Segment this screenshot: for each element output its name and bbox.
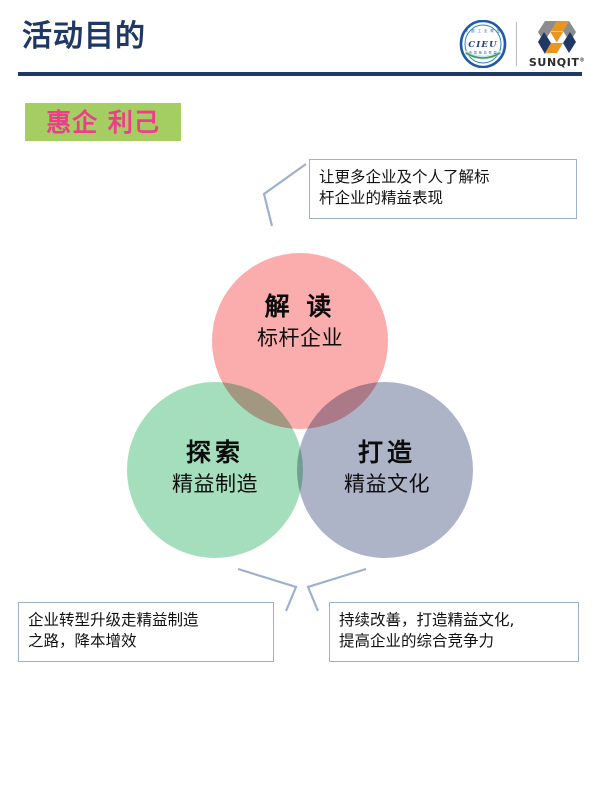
venn-subtitle-right: 精益文化 <box>292 472 482 497</box>
venn-subtitle-left: 精益制造 <box>120 472 310 497</box>
callout-bl-line1: 企业转型升级走精益制造 <box>28 610 264 631</box>
venn-heading-left: 探索 <box>120 438 310 468</box>
venn-label-left: 探索 精益制造 <box>120 438 310 496</box>
callout-br-line2: 提高企业的综合竞争力 <box>339 631 569 652</box>
status-badge: 惠企 利己 <box>25 103 181 141</box>
sunqit-logo: SUNQIT® <box>526 18 588 70</box>
page-title: 活动目的 <box>22 22 146 52</box>
venn-label-top: 解 读 标杆企业 <box>212 292 388 350</box>
connector-top <box>248 160 318 230</box>
venn-subtitle-top: 标杆企业 <box>212 326 388 351</box>
callout-bl-line2: 之路，降本增效 <box>28 631 264 652</box>
title-divider <box>18 72 582 76</box>
callout-top: 让更多企业及个人了解标 杆企业的精益表现 <box>309 159 577 219</box>
svg-text:中 国 精 益 联 盟: 中 国 精 益 联 盟 <box>469 50 497 55</box>
callout-top-line2: 杆企业的精益表现 <box>319 188 567 209</box>
svg-text:CIEU: CIEU <box>468 40 497 50</box>
callout-bottom-right: 持续改善，打造精益文化, 提高企业的综合竞争力 <box>329 602 579 662</box>
venn-heading-top: 解 读 <box>212 292 388 322</box>
logo-group: CIEU 中 国 工 业 联 盟 中 国 精 益 联 盟 <box>459 18 588 70</box>
logo-divider <box>516 22 517 66</box>
callout-br-line1: 持续改善，打造精益文化, <box>339 610 569 631</box>
badge-label: 惠企 利己 <box>46 110 160 135</box>
callout-bottom-left: 企业转型升级走精益制造 之路，降本增效 <box>18 602 274 662</box>
slide-canvas: 活动目的 CIEU 中 国 工 业 联 盟 中 国 精 益 联 盟 <box>0 0 600 800</box>
sunqit-wordmark: SUNQIT® <box>529 57 585 68</box>
svg-text:中 国 工 业 联 盟: 中 国 工 业 联 盟 <box>465 28 501 33</box>
venn-heading-right: 打造 <box>292 438 482 468</box>
cieu-logo: CIEU 中 国 工 业 联 盟 中 国 精 益 联 盟 <box>459 20 507 68</box>
venn-label-right: 打造 精益文化 <box>292 438 482 496</box>
callout-top-line1: 让更多企业及个人了解标 <box>319 167 567 188</box>
